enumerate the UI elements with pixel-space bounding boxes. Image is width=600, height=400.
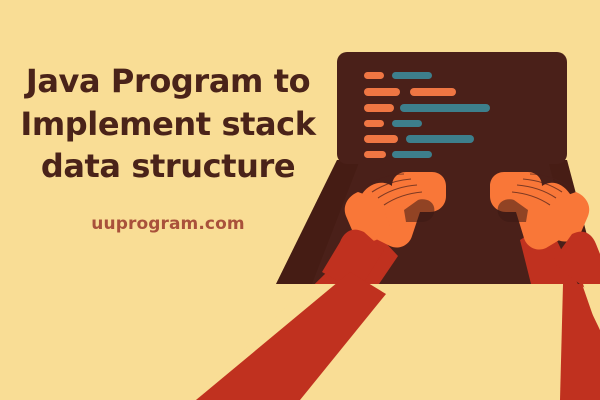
- text-block: Java Program to Implement stack data str…: [0, 60, 336, 234]
- code-line-6: [364, 151, 432, 158]
- site-url: uuprogram.com: [0, 188, 336, 234]
- page-title: Java Program to Implement stack data str…: [0, 60, 336, 188]
- headline-line-1: Java Program to: [6, 60, 330, 103]
- code-line-5: [364, 135, 474, 143]
- code-line-3: [364, 104, 490, 112]
- headline-line-3: data structure: [6, 145, 330, 188]
- code-line-1: [364, 72, 432, 79]
- headline-line-2: Implement stack: [6, 103, 330, 146]
- poster-canvas: Java Program to Implement stack data str…: [0, 0, 600, 400]
